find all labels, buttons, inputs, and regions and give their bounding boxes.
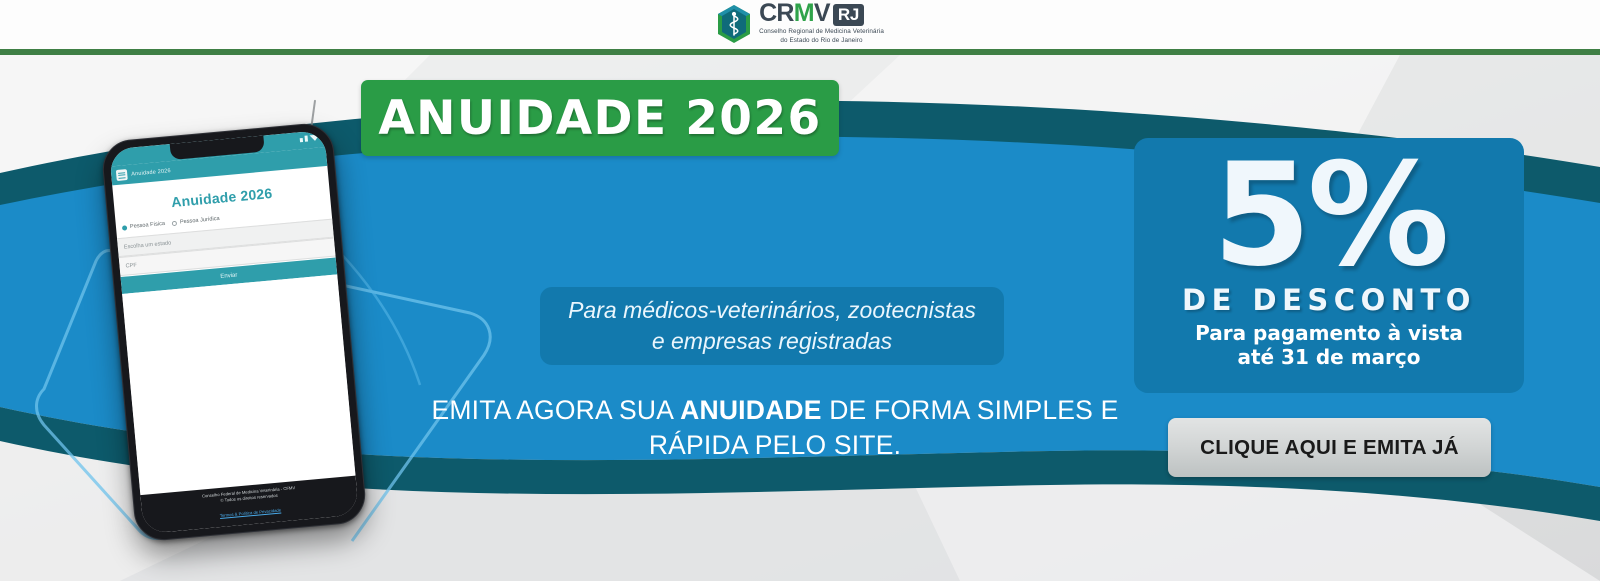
radio-dot-icon	[172, 220, 177, 225]
phone-screen: Anuidade 2026 Anuidade 2026 Pessoa Físic…	[109, 130, 359, 534]
discount-panel: 5% DE DESCONTO Para pagamento à vista at…	[1134, 138, 1524, 393]
logo-letter-v: V	[814, 0, 830, 27]
discount-percentage: 5%	[1212, 146, 1445, 285]
signal-bars-icon	[305, 136, 309, 142]
wifi-icon	[309, 134, 320, 141]
discount-note-line1: Para pagamento à vista	[1195, 321, 1463, 345]
phone-navbar-title: Anuidade 2026	[131, 168, 171, 178]
discount-label: DE DESCONTO	[1182, 283, 1476, 317]
discount-note: Para pagamento à vista até 31 de março	[1195, 321, 1463, 369]
banner-page: CRMV RJ Conselho Regional de Medicina Ve…	[0, 0, 1600, 581]
banner-body-text: EMITA AGORA SUA ANUIDADE DE FORMA SIMPLE…	[420, 393, 1130, 463]
logo-letter-r: R	[776, 0, 793, 27]
phone-mockup: Anuidade 2026 Anuidade 2026 Pessoa Físic…	[100, 121, 367, 542]
logo-letter-m: M	[794, 0, 814, 27]
logo-subtitle-line1: Conselho Regional de Medicina Veterinári…	[759, 28, 884, 37]
banner-title-box: ANUIDADE 2026	[361, 80, 839, 156]
logo-subtitle-line2: do Estado do Rio de Janeiro	[759, 37, 884, 46]
promo-banner: ANUIDADE 2026 Anu	[0, 55, 1600, 581]
phone-status-icons	[300, 134, 320, 142]
discount-note-line2: até 31 de março	[1237, 345, 1420, 369]
body-text-highlight: ANUIDADE	[680, 395, 821, 425]
crmv-rj-logo[interactable]: CRMV RJ Conselho Regional de Medicina Ve…	[716, 1, 884, 45]
subtitle-pill: Para médicos-veterinários, zootecnistas …	[540, 287, 1004, 365]
body-text-prefix: EMITA AGORA SUA	[432, 395, 681, 425]
hexagon-caduceus-icon	[716, 4, 752, 44]
subtitle-line1: Para médicos-veterinários, zootecnistas	[568, 295, 976, 326]
emit-now-button[interactable]: CLIQUE AQUI E EMITA JÁ	[1168, 418, 1491, 477]
phone-content-blank-area	[122, 274, 355, 495]
phone-footer-link[interactable]: Termos & Política de Privacidade	[220, 507, 282, 518]
hamburger-menu-icon[interactable]	[116, 169, 128, 181]
site-header: CRMV RJ Conselho Regional de Medicina Ve…	[0, 0, 1600, 49]
subtitle-line2: e empresas registradas	[652, 326, 892, 357]
phone-body: Anuidade 2026 Anuidade 2026 Pessoa Físic…	[100, 121, 367, 542]
logo-state-badge: RJ	[833, 4, 864, 26]
banner-title: ANUIDADE 2026	[378, 91, 821, 146]
logo-wordmark: CRMV	[759, 1, 830, 26]
radio-dot-icon	[122, 225, 127, 230]
logo-letter-c: C	[759, 0, 776, 27]
signal-bars-icon	[300, 138, 303, 142]
phone-app-content: Anuidade 2026 Pessoa Física Pessoa Juríd…	[112, 166, 359, 534]
